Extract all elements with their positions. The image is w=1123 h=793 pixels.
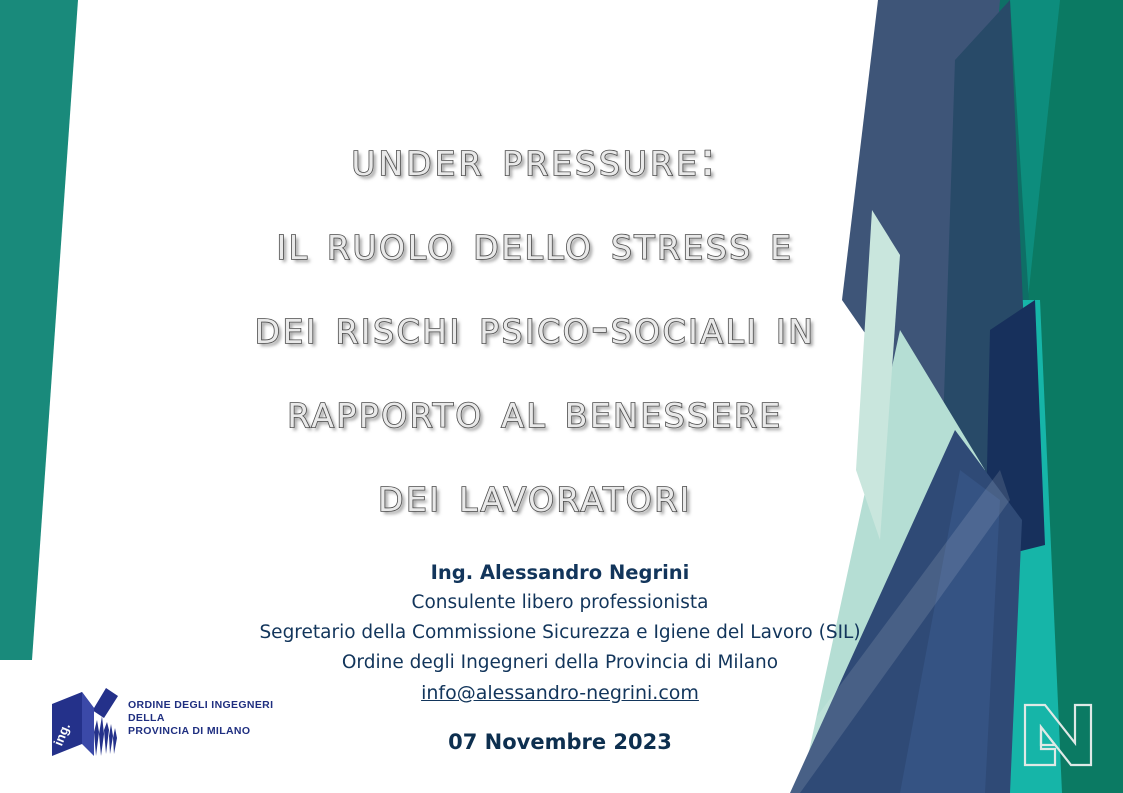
ordine-logo-text: ORDINE DEGLI INGEGNERI DELLA PROVINCIA D… xyxy=(128,699,308,738)
ordine-book-icon: ing. xyxy=(38,670,120,766)
ordine-logo-line2: PROVINCIA DI MILANO xyxy=(128,725,308,738)
presenter-name: Ing. Alessandro Negrini xyxy=(110,558,1010,588)
presenter-role: Consulente libero professionista xyxy=(110,588,1010,618)
presenter-email-link[interactable]: info@alessandro-negrini.com xyxy=(421,678,699,708)
ordine-logo-line1: ORDINE DEGLI INGEGNERI DELLA xyxy=(128,699,308,725)
title-line-5: dei lavoratori xyxy=(120,454,950,538)
title-line-1: Under Pressure: xyxy=(120,118,950,202)
ordine-ingegneri-logo: ing. ORDINE DEGLI INGEGNERI DELLA PROVIN… xyxy=(38,668,308,768)
title-line-2: Il ruolo dello stress e xyxy=(120,202,950,286)
an-monogram-icon xyxy=(1019,699,1097,771)
presenter-commission: Segretario della Commissione Sicurezza e… xyxy=(110,618,1010,648)
title-line-4: rapporto al benessere xyxy=(120,370,950,454)
slide-title: Under Pressure: Il ruolo dello stress e … xyxy=(120,118,950,538)
presentation-slide: Under Pressure: Il ruolo dello stress e … xyxy=(0,0,1123,793)
title-line-3: dei rischi psico-sociali in xyxy=(120,286,950,370)
